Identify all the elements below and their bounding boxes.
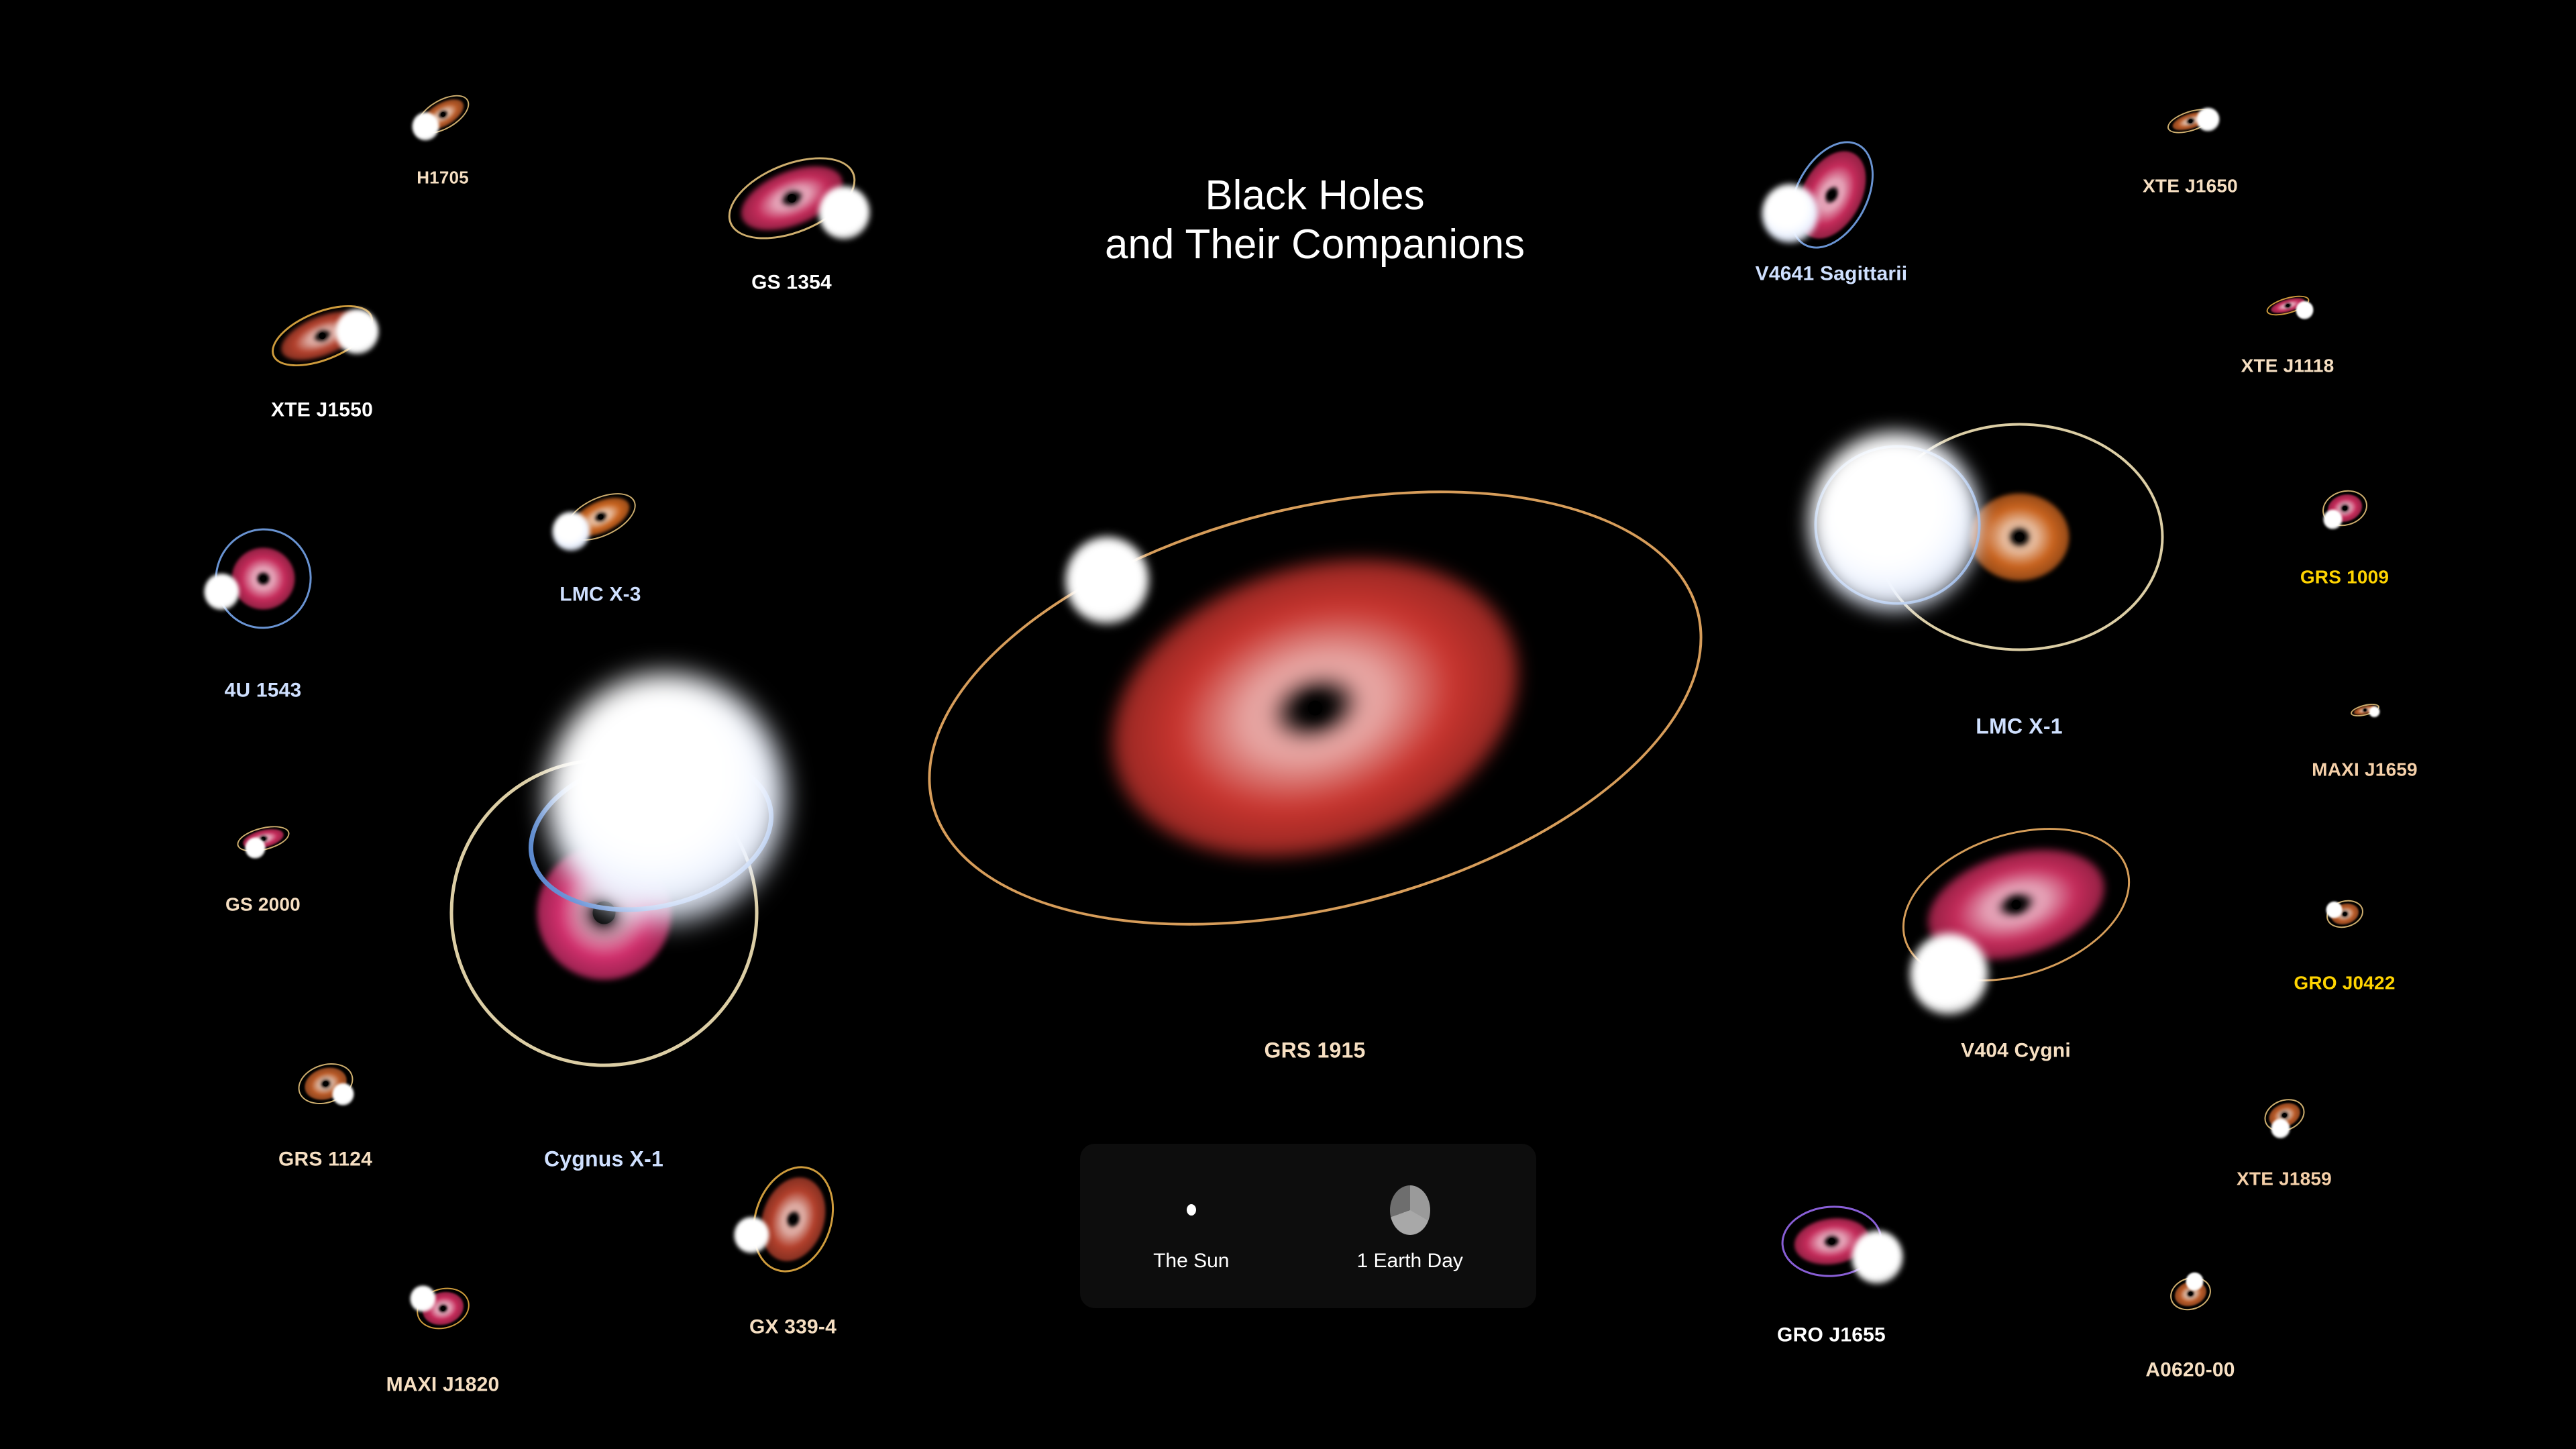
- companion-star-icon: [2296, 301, 2313, 319]
- system-label-xtej1550: XTE J1550: [271, 399, 373, 422]
- page-title-line-1: Black Holes: [979, 171, 1650, 220]
- companion-star-icon: [2369, 706, 2379, 718]
- system-gx3394[interactable]: GX 339-4: [793, 1219, 794, 1220]
- system-v4641[interactable]: V4641 Sagittarii: [1831, 195, 1832, 195]
- system-label-a062000: A0620-00: [2145, 1359, 2235, 1382]
- system-cygnusx1[interactable]: Cygnus X-1: [604, 912, 604, 913]
- companion-star-icon: [1762, 184, 1818, 243]
- system-maxij1659[interactable]: MAXI J1659: [2365, 710, 2365, 710]
- system-grs1124[interactable]: GRS 1124: [325, 1083, 326, 1084]
- system-xtej1118[interactable]: XTE J1118: [2288, 305, 2288, 306]
- system-v404[interactable]: V404 Cygni: [2016, 904, 2017, 905]
- companion-star-icon: [546, 673, 785, 924]
- system-label-grs1009: GRS 1009: [2300, 567, 2389, 588]
- system-xtej1859[interactable]: XTE J1859: [2284, 1115, 2285, 1116]
- system-label-v4641: V4641 Sagittarii: [1756, 263, 1908, 286]
- companion-star-icon: [335, 309, 378, 354]
- legend-item-earth-day: 1 Earth Day: [1357, 1180, 1463, 1273]
- system-gs1354[interactable]: GS 1354: [792, 198, 792, 199]
- companion-star-icon: [734, 1217, 769, 1254]
- scale-legend-panel: The Sun 1 Earth Day: [1080, 1144, 1536, 1308]
- companion-star-icon: [1910, 933, 1988, 1015]
- system-grs1009[interactable]: GRS 1009: [2345, 508, 2345, 508]
- companion-star-icon: [2186, 1272, 2203, 1290]
- system-groj0422[interactable]: GRO J0422: [2345, 914, 2345, 914]
- black-hole-infographic-canvas: Black Holes and Their Companions H1705GS…: [0, 0, 2576, 1449]
- legend-label-earth-day: 1 Earth Day: [1357, 1250, 1463, 1273]
- companion-star-icon: [2271, 1118, 2290, 1138]
- system-lmcx3[interactable]: LMC X-3: [600, 517, 601, 517]
- system-label-lmcx1: LMC X-1: [1976, 714, 2062, 739]
- system-label-xtej1859: XTE J1859: [2237, 1169, 2332, 1190]
- page-title: Black Holes and Their Companions: [979, 171, 1650, 269]
- system-label-maxij1820: MAXI J1820: [386, 1374, 500, 1397]
- system-label-h1705: H1705: [417, 168, 469, 189]
- companion-star-icon: [1065, 537, 1148, 624]
- companion-star-icon: [410, 1285, 435, 1312]
- system-lmcx1[interactable]: LMC X-1: [2019, 537, 2020, 537]
- system-label-gx3394: GX 339-4: [749, 1316, 837, 1339]
- system-label-lmcx3: LMC X-3: [559, 584, 641, 606]
- orbit-ellipse: [882, 417, 1748, 999]
- companion-star-icon: [204, 574, 239, 610]
- system-label-gs2000: GS 2000: [225, 894, 301, 916]
- system-label-grs1124: GRS 1124: [278, 1148, 372, 1171]
- companion-star-icon: [2326, 901, 2342, 918]
- system-label-xtej1118: XTE J1118: [2241, 356, 2334, 377]
- system-label-grs1915: GRS 1915: [1264, 1038, 1365, 1063]
- legend-label-sun: The Sun: [1153, 1250, 1229, 1273]
- system-label-cygnusx1: Cygnus X-1: [544, 1147, 663, 1172]
- system-maxij1820[interactable]: MAXI J1820: [443, 1308, 443, 1309]
- companion-star-icon: [412, 112, 439, 140]
- system-label-xtej1650: XTE J1650: [2143, 176, 2238, 197]
- system-label-gs1354: GS 1354: [751, 272, 832, 294]
- system-xtej1650[interactable]: XTE J1650: [2190, 121, 2191, 121]
- companion-star-icon: [1851, 1230, 1902, 1284]
- system-label-groj1655: GRO J1655: [1777, 1324, 1886, 1347]
- system-4u1543[interactable]: 4U 1543: [263, 578, 264, 579]
- system-label-groj0422: GRO J0422: [2294, 973, 2395, 994]
- companion-star-icon: [552, 512, 590, 551]
- system-h1705[interactable]: H1705: [443, 114, 443, 115]
- system-label-maxij1659: MAXI J1659: [2312, 759, 2418, 781]
- system-groj1655[interactable]: GRO J1655: [1831, 1241, 1832, 1242]
- companion-star-icon: [1809, 432, 1980, 612]
- page-title-line-2: and Their Companions: [979, 220, 1650, 269]
- companion-star-icon: [245, 837, 265, 859]
- earth-day-pie-icon: [1390, 1180, 1430, 1240]
- sun-dot-icon: [1187, 1180, 1196, 1240]
- legend-item-sun: The Sun: [1153, 1180, 1229, 1273]
- system-gs2000[interactable]: GS 2000: [263, 839, 264, 839]
- companion-star-icon: [332, 1083, 354, 1106]
- system-xtej1550[interactable]: XTE J1550: [322, 335, 323, 336]
- companion-star-icon: [818, 186, 869, 239]
- system-label-4u1543: 4U 1543: [225, 680, 302, 702]
- system-label-v404: V404 Cygni: [1961, 1040, 2071, 1063]
- companion-star-icon: [2196, 107, 2219, 131]
- system-grs1915[interactable]: GRS 1915: [1315, 708, 1316, 708]
- system-a062000[interactable]: A0620-00: [2190, 1293, 2191, 1294]
